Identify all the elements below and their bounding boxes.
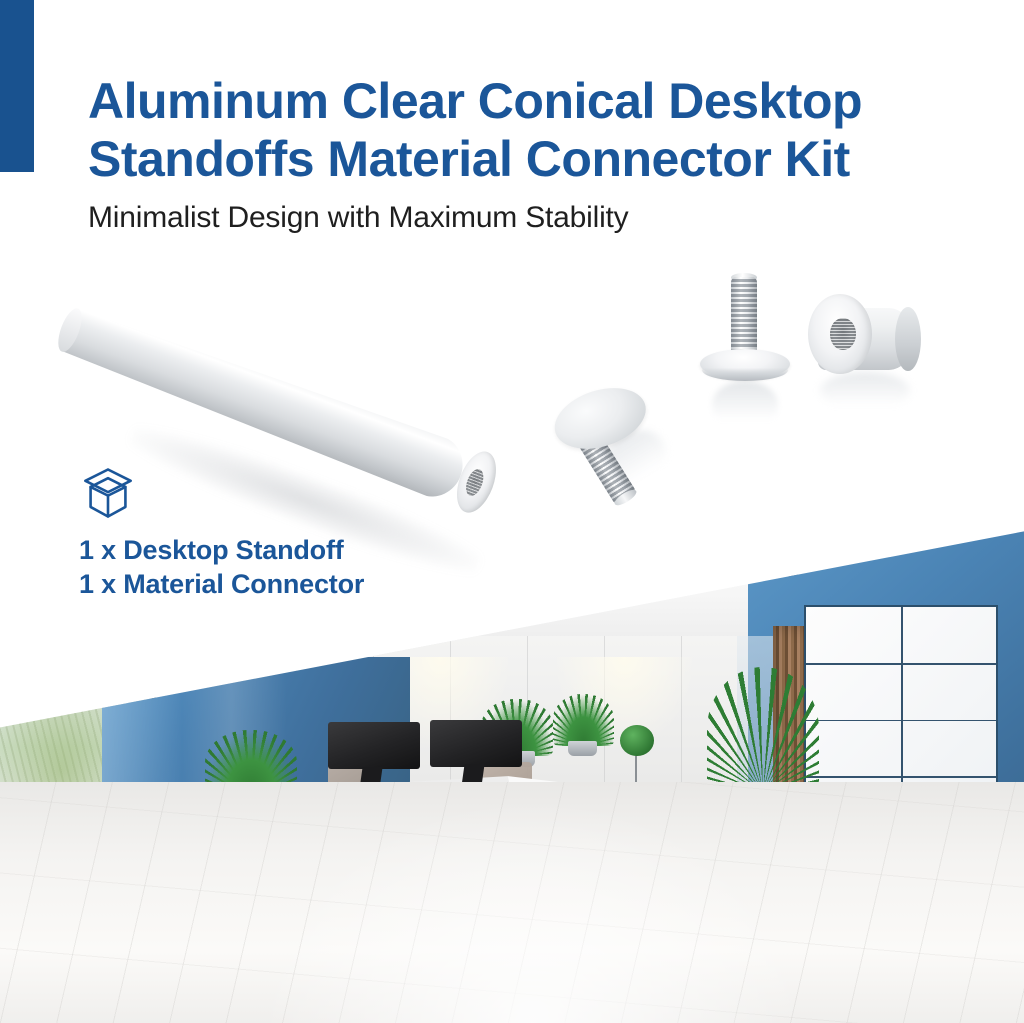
floor-reflection [266, 803, 798, 1023]
kit-item-1: 1 x Desktop Standoff [79, 533, 364, 567]
barrel-rear-rim [895, 307, 921, 371]
potted-plant [553, 694, 614, 746]
screw-upright-reflection [712, 381, 778, 427]
barrel-reflection [820, 372, 910, 410]
screw-upright-thread [731, 277, 757, 359]
barrel-nut-material-connector [812, 290, 917, 398]
kit-contents-list: 1 x Desktop Standoff 1 x Material Connec… [79, 533, 364, 601]
flat-head-threaded-screw-tilted [548, 340, 722, 511]
palm-plant [707, 667, 820, 793]
reception-monitor [328, 722, 420, 769]
kit-item-2: 1 x Material Connector [79, 567, 364, 601]
header: Aluminum Clear Conical Desktop Standoffs… [88, 72, 988, 236]
screw-upright-head-edge [702, 359, 788, 381]
reception-monitor [430, 720, 522, 767]
accent-bar [0, 0, 34, 172]
plant-pot [568, 741, 597, 757]
product-banner: Aluminum Clear Conical Desktop Standoffs… [0, 0, 1024, 1023]
page-title-line-1: Aluminum Clear Conical Desktop [88, 72, 988, 130]
conical-desktop-standoff-rod [1, 300, 490, 660]
barrel-threaded-hole [830, 318, 856, 350]
page-title-line-2: Standoffs Material Connector Kit [88, 130, 988, 188]
page-subtitle: Minimalist Design with Maximum Stability [88, 200, 988, 236]
open-box-icon [80, 466, 136, 520]
flat-head-threaded-screw-upright [700, 277, 790, 387]
